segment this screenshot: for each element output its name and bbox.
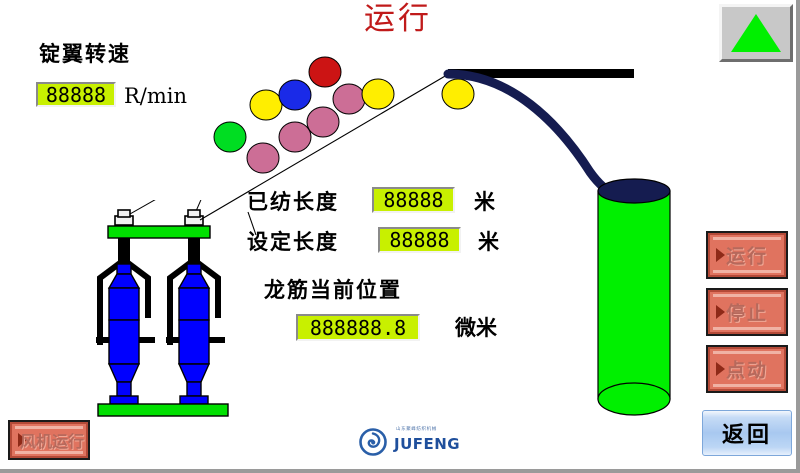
set-length-value[interactable]: 88888 (378, 227, 461, 253)
return-button-label: 返回 (703, 417, 791, 449)
yellow-bobbin-3 (442, 79, 474, 109)
pink-bobbin-1 (333, 84, 365, 114)
pink-bobbin-3 (279, 122, 311, 152)
button-bevel-top (713, 237, 781, 240)
button-bevel-bottom (713, 384, 781, 387)
spindle-assembly-right (166, 238, 225, 404)
page-title: 运行 (318, 0, 478, 40)
pink-bobbin-2 (307, 107, 339, 137)
logo-subtitle: 山东聚峰纺织机械 (396, 427, 437, 433)
spindle-assembly-left (96, 238, 155, 404)
flyer-speed-value[interactable]: 88888 (36, 82, 116, 107)
button-bevel-top (713, 294, 781, 297)
set-length-label: 设定长度 (247, 229, 339, 255)
flyer-speed-unit: R/min (124, 83, 187, 109)
jog-button[interactable]: 点动 (706, 345, 788, 393)
pink-bobbin-4 (247, 143, 279, 173)
rail-position-value[interactable]: 888888.8 (296, 314, 420, 341)
jog-button-label: 点动 (708, 356, 786, 383)
can-top-rim (598, 179, 670, 203)
bottom-rail (98, 404, 228, 416)
button-bevel-bottom (713, 327, 781, 330)
bobbin-cap-right (185, 210, 203, 225)
fan-run-button[interactable]: 风机运行 (8, 420, 90, 460)
run-button-label: 运行 (708, 242, 786, 269)
bobbin-cap-left (115, 210, 133, 225)
spun-length-label: 已纺长度 (247, 189, 339, 215)
yellow-bobbin-2 (362, 79, 394, 109)
rail-position-label: 龙筋当前位置 (264, 277, 402, 303)
jufeng-logo: 山东聚峰纺织机械 JUFENG (358, 425, 464, 457)
stop-button[interactable]: 停止 (706, 288, 788, 336)
run-button[interactable]: 运行 (706, 231, 788, 279)
top-guide-bar (448, 69, 634, 78)
stop-button-label: 停止 (708, 299, 786, 326)
jufeng-swirl-icon (358, 427, 392, 457)
sliver-path (440, 60, 690, 210)
rail-position-unit: 微米 (455, 315, 497, 341)
up-arrow-button[interactable] (719, 4, 793, 62)
spun-length-value[interactable]: 88888 (372, 187, 455, 213)
fan-run-button-label: 风机运行 (16, 428, 88, 452)
button-bevel-bottom (713, 270, 781, 273)
sliver-can (580, 165, 700, 435)
green-bobbin (214, 122, 246, 152)
set-length-unit: 米 (478, 229, 499, 255)
button-bevel-top (713, 351, 781, 354)
flyer-speed-label: 锭翼转速 (39, 41, 131, 67)
red-bobbin (309, 57, 341, 87)
hmi-screen: 运行 锭翼转速 88888 R/min (0, 0, 800, 473)
yellow-bobbin-1 (250, 90, 282, 120)
return-button[interactable]: 返回 (702, 410, 792, 456)
logo-wordmark: JUFENG (394, 436, 460, 452)
triangle-up-icon (731, 14, 781, 52)
blue-bobbin (279, 80, 311, 110)
top-rail (108, 226, 210, 238)
spindle-machine-graphic (60, 200, 260, 440)
spun-length-unit: 米 (474, 189, 495, 215)
